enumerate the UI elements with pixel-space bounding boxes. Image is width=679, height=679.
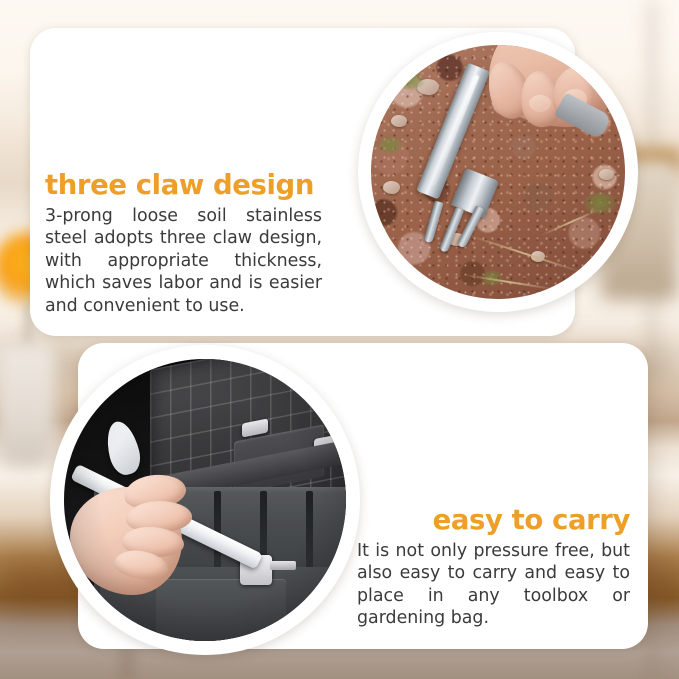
- soil-cultivator-photo: [358, 32, 638, 312]
- pebble: [383, 181, 400, 194]
- white-vase: [0, 344, 56, 466]
- feature-text-three-claw-design: three claw design 3-prong loose soil sta…: [45, 171, 322, 318]
- cabinet-edge-right: [648, 0, 662, 679]
- toolbox-photo-inner: [64, 359, 346, 641]
- pebble: [599, 169, 614, 180]
- feature-heading-easy-to-carry: easy to carry: [357, 506, 630, 535]
- soil-photo-inner: [371, 45, 625, 299]
- feature-text-easy-to-carry: easy to carry It is not only pressure fr…: [357, 506, 630, 630]
- feature-body-three-claw-design: 3-prong loose soil stainless steel adopt…: [45, 205, 322, 318]
- fingernail: [529, 95, 551, 112]
- photo-vignette: [64, 359, 346, 641]
- product-feature-image: three claw design 3-prong loose soil sta…: [0, 0, 679, 679]
- pebble: [391, 115, 407, 127]
- feature-heading-three-claw-design: three claw design: [45, 171, 322, 200]
- moss-patch: [395, 71, 425, 89]
- feature-body-easy-to-carry: It is not only pressure free, but also e…: [357, 540, 630, 631]
- moss-patch: [377, 137, 403, 153]
- toolbox-storage-photo: [50, 345, 360, 655]
